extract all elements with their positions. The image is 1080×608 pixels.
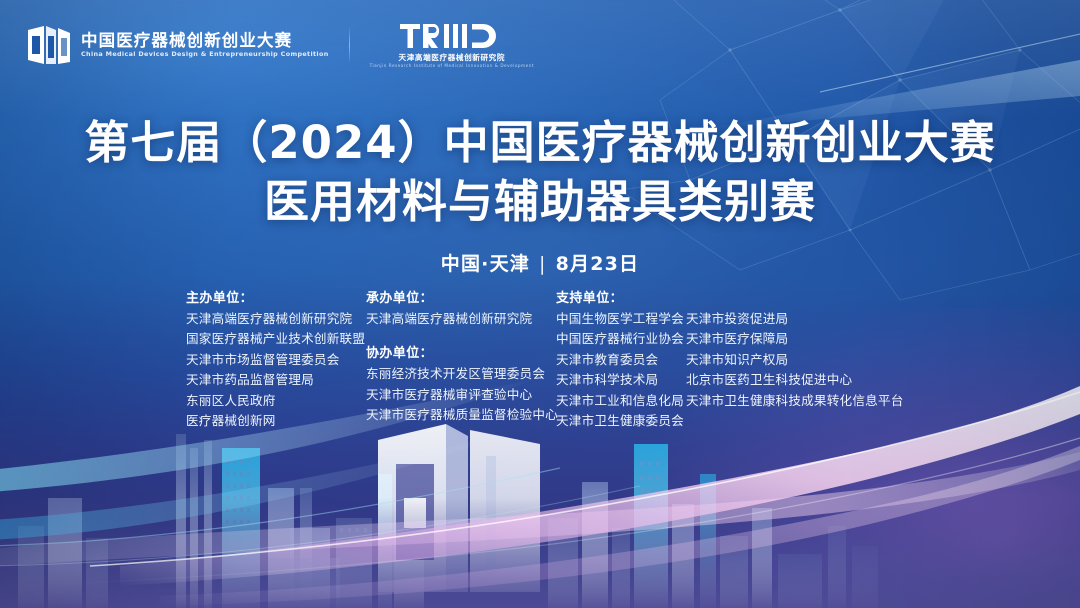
event-poster: 中国医疗器械创新创业大赛 China Medical Devices Desig… <box>0 0 1080 608</box>
event-date: 8月23日 <box>556 253 640 275</box>
gate-door-logo-icon <box>26 24 72 66</box>
trmid-wordmark-icon <box>400 22 504 52</box>
competition-logo-name-cn: 中国医疗器械创新创业大赛 <box>81 32 329 49</box>
competition-logo: 中国医疗器械创新创业大赛 China Medical Devices Desig… <box>26 24 329 66</box>
host-item: 医疗器械创新网 <box>186 411 366 431</box>
title-line-1: 第七届（2024）中国医疗器械创新创业大赛 <box>0 116 1080 169</box>
host-column: 主办单位： 天津高端医疗器械创新研究院 国家医疗器械产业技术创新联盟 天津市市场… <box>186 288 366 431</box>
supporter-item: 天津市医疗保障局 <box>686 329 896 349</box>
coorganizer-item: 天津市医疗器械质量监督检验中心 <box>366 405 556 425</box>
supporter-column: 支持单位： 中国生物医学工程学会 中国医疗器械行业协会 天津市教育委员会 天津市… <box>556 288 896 431</box>
institute-name-en: Tianjin Research Institute of Medical In… <box>370 64 534 68</box>
host-item: 天津市药品监督管理局 <box>186 370 366 390</box>
host-heading: 主办单位： <box>186 288 366 309</box>
logo-divider <box>349 26 350 64</box>
supporter-item: 天津市工业和信息化局 <box>556 391 686 411</box>
supporter-item: 天津市投资促进局 <box>686 309 896 329</box>
supporter-item: 中国生物医学工程学会 <box>556 309 686 329</box>
coorganizer-heading: 协办单位： <box>366 343 556 364</box>
organizer-columns: 主办单位： 天津高端医疗器械创新研究院 国家医疗器械产业技术创新联盟 天津市市场… <box>186 288 896 431</box>
coorganizer-item: 东丽经济技术开发区管理委员会 <box>366 364 556 384</box>
title-line-2: 医用材料与辅助器具类别赛 <box>0 175 1080 229</box>
institute-name-cn: 天津高端医疗器械创新研究院 <box>399 54 506 62</box>
event-location-date: 中国·天津|8月23日 <box>0 249 1080 276</box>
host-item: 天津市市场监督管理委员会 <box>186 350 366 370</box>
supporter-subcolumn-2: 天津市投资促进局 天津市医疗保障局 天津市知识产权局 北京市医药卫生科技促进中心… <box>686 309 896 431</box>
coorganizer-group: 协办单位： 东丽经济技术开发区管理委员会 天津市医疗器械审评查验中心 天津市医疗… <box>366 343 556 425</box>
event-location: 中国·天津 <box>441 253 530 275</box>
supporter-heading: 支持单位： <box>556 288 896 309</box>
header-logos: 中国医疗器械创新创业大赛 China Medical Devices Desig… <box>26 22 534 68</box>
institute-logo: 天津高端医疗器械创新研究院 Tianjin Research Institute… <box>370 22 534 68</box>
host-item: 天津高端医疗器械创新研究院 <box>186 309 366 329</box>
subtitle-separator: | <box>539 253 547 275</box>
undertaker-coorganizer-column: 承办单位： 天津高端医疗器械创新研究院 协办单位： 东丽经济技术开发区管理委员会… <box>366 288 556 426</box>
competition-logo-name-en: China Medical Devices Design & Entrepren… <box>81 51 329 58</box>
supporter-item: 天津市知识产权局 <box>686 350 896 370</box>
host-group: 主办单位： 天津高端医疗器械创新研究院 国家医疗器械产业技术创新联盟 天津市市场… <box>186 288 366 431</box>
supporter-subcolumns: 中国生物医学工程学会 中国医疗器械行业协会 天津市教育委员会 天津市科学技术局 … <box>556 309 896 431</box>
host-item: 东丽区人民政府 <box>186 391 366 411</box>
undertaker-group: 承办单位： 天津高端医疗器械创新研究院 <box>366 288 556 329</box>
undertaker-heading: 承办单位： <box>366 288 556 309</box>
poster-title-block: 第七届（2024）中国医疗器械创新创业大赛 医用材料与辅助器具类别赛 中国·天津… <box>0 116 1080 276</box>
coorganizer-item: 天津市医疗器械审评查验中心 <box>366 385 556 405</box>
supporter-item: 天津市卫生健康委员会 <box>556 411 686 431</box>
supporter-item: 中国医疗器械行业协会 <box>556 329 686 349</box>
supporter-subcolumn-1: 中国生物医学工程学会 中国医疗器械行业协会 天津市教育委员会 天津市科学技术局 … <box>556 309 686 431</box>
supporter-item: 天津市科学技术局 <box>556 370 686 390</box>
supporter-item: 天津市卫生健康科技成果转化信息平台 <box>686 391 896 411</box>
undertaker-item: 天津高端医疗器械创新研究院 <box>366 309 556 329</box>
supporter-item: 北京市医药卫生科技促进中心 <box>686 370 896 390</box>
host-item: 国家医疗器械产业技术创新联盟 <box>186 329 366 349</box>
supporter-item: 天津市教育委员会 <box>556 350 686 370</box>
